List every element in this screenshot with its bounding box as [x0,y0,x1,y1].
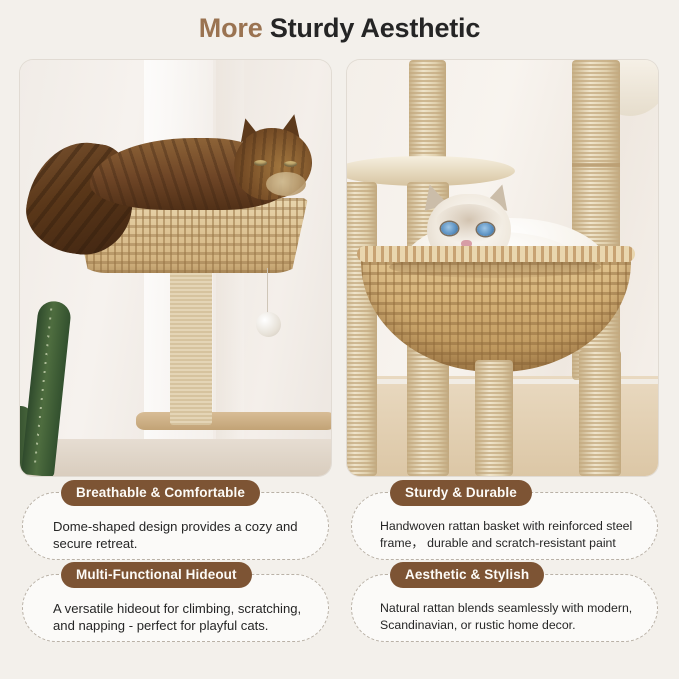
photo-right [347,60,658,476]
feature-badge: Aesthetic & Stylish [390,562,544,588]
page-header: More Sturdy Aesthetic [0,0,679,56]
rattan-basket-rim [357,246,635,262]
sisal-post-upper [409,60,446,164]
pompom-string [267,268,268,316]
sisal-post-front-left [475,360,513,476]
sisal-post [170,265,212,425]
feature-card-grid: Breathable & Comfortable Dome-shaped des… [22,492,658,642]
page-title-rest: Sturdy Aesthetic [270,13,480,43]
photo-left [20,60,331,476]
cat-eye-right [477,223,494,236]
post-joint-band [572,163,620,167]
page-title-accent: More [199,13,263,43]
cat-muzzle [266,172,306,196]
sisal-post-left [347,182,377,476]
feature-card-aesthetic: Aesthetic & Stylish Natural rattan blend… [351,574,658,642]
sisal-post-front-right [579,350,621,476]
cat-eye-right [284,161,297,167]
feature-description: Handwoven rattan basket with reinforced … [380,518,635,552]
tabby-cat [38,116,318,246]
feature-badge: Multi-Functional Hideout [61,562,252,588]
feature-card-sturdy: Sturdy & Durable Handwoven rattan basket… [351,492,658,560]
feature-card-multifunctional: Multi-Functional Hideout A versatile hid… [22,574,329,642]
cactus-stem [21,300,72,476]
wooden-shelf [136,412,331,430]
page-title: More Sturdy Aesthetic [199,13,480,44]
cactus-plant [20,301,86,476]
feature-card-breathable: Breathable & Comfortable Dome-shaped des… [22,492,329,560]
feature-description: A versatile hideout for climbing, scratc… [53,600,302,634]
pompom-toy [256,312,281,337]
cat-eye-left [254,160,267,166]
photo-gallery [20,60,659,476]
feature-badge: Sturdy & Durable [390,480,532,506]
cat-eye-left [441,222,458,235]
feature-description: Natural rattan blends seamlessly with mo… [380,600,635,634]
feature-description: Dome-shaped design provides a cozy and s… [53,518,302,552]
feature-badge: Breathable & Comfortable [61,480,260,506]
